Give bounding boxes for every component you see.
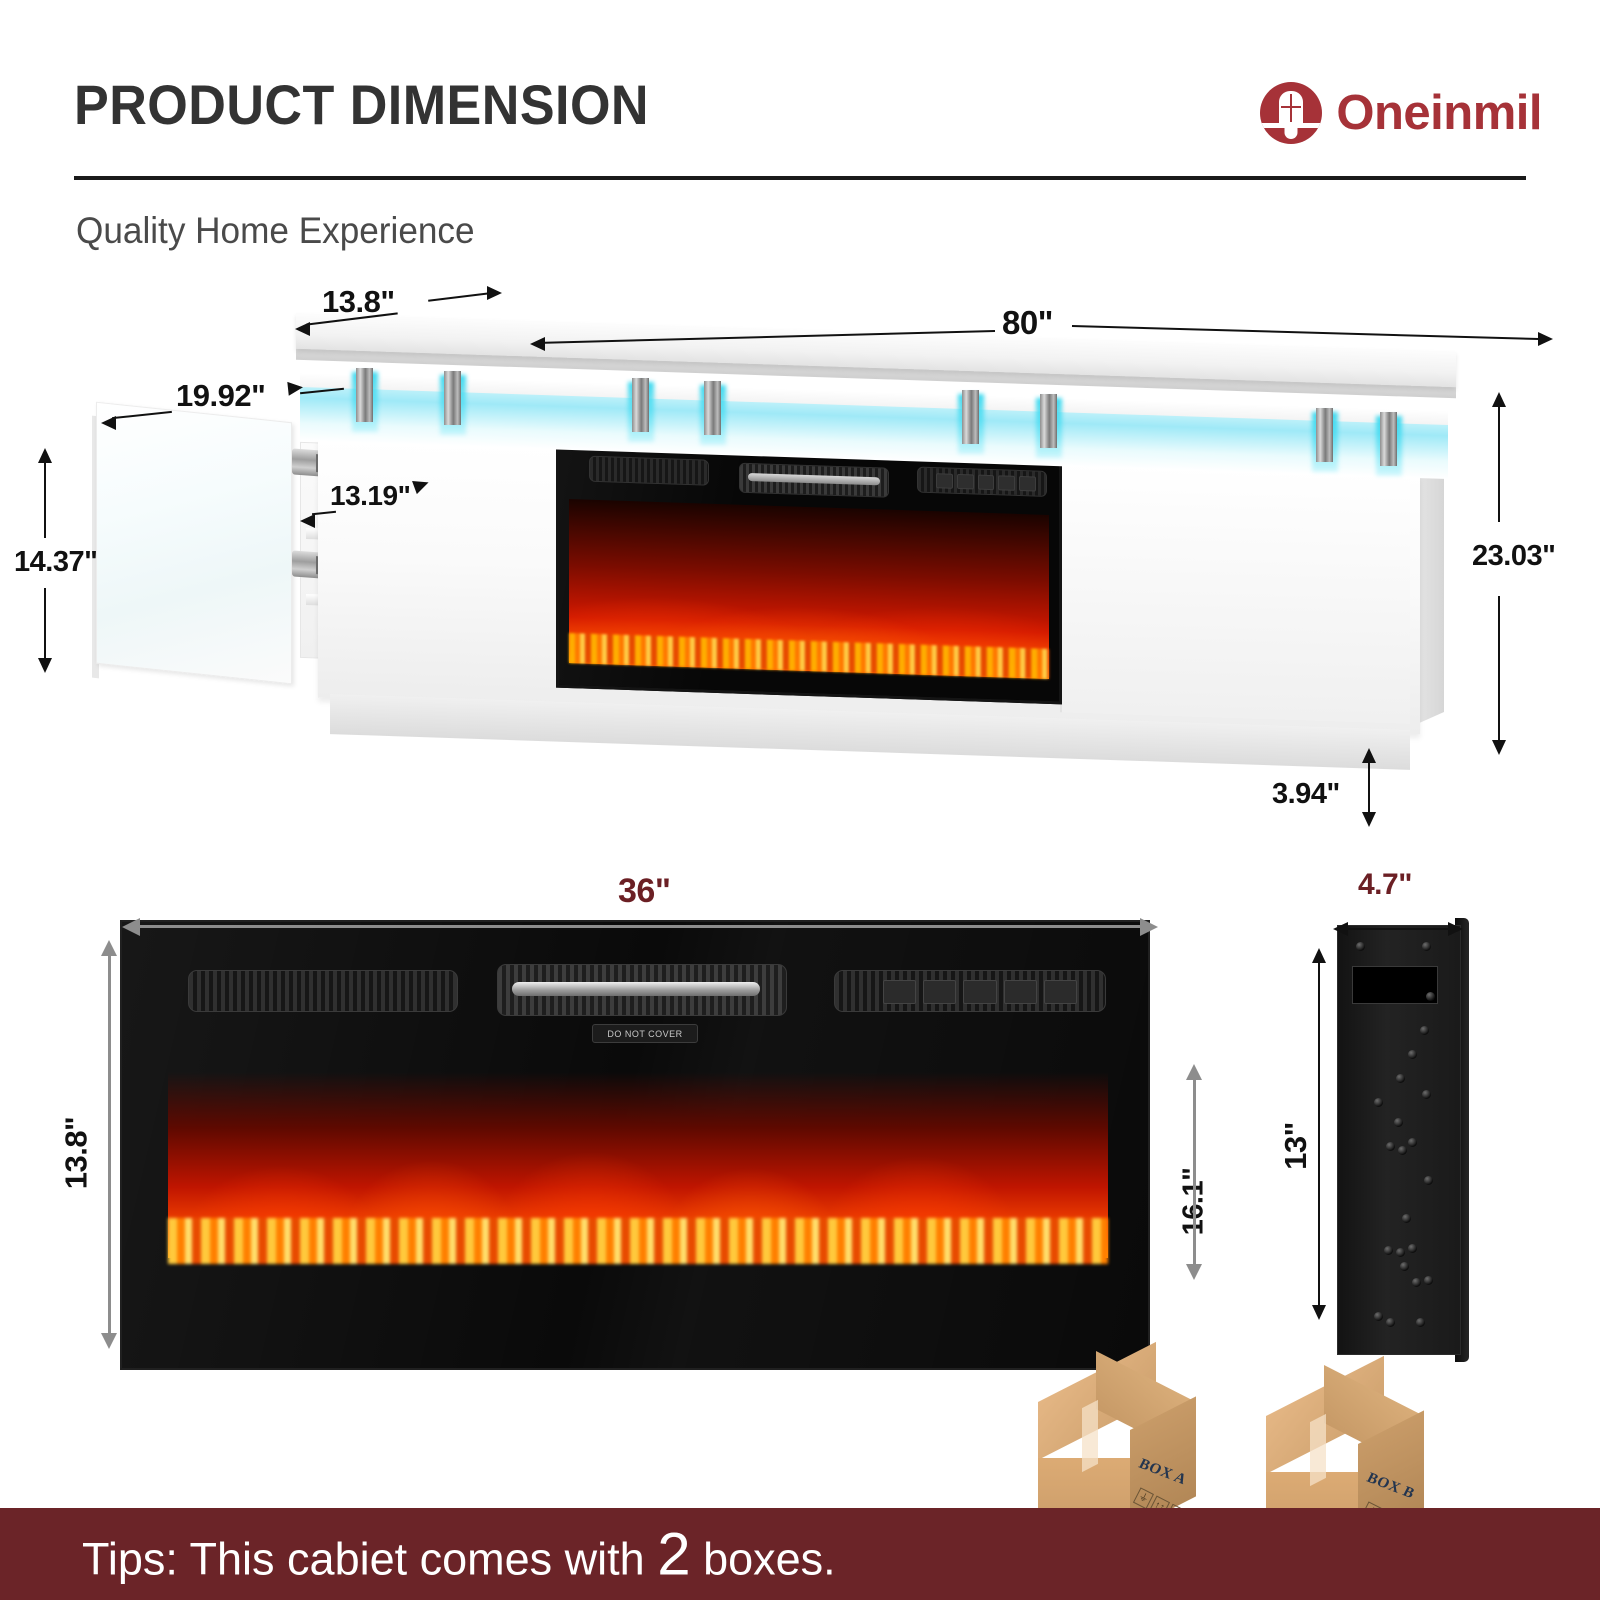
chrome-post-3 <box>632 378 649 432</box>
tips-prefix: Tips: This cabiet comes with <box>82 1534 657 1585</box>
dim-arrow <box>140 925 1140 928</box>
page-title: PRODUCT DIMENSION <box>74 72 649 137</box>
chrome-post-5 <box>962 390 979 444</box>
cabinet-right-door <box>1060 462 1410 724</box>
arrow-head <box>530 337 545 351</box>
arrow-head <box>487 286 502 300</box>
arrow-head <box>1333 922 1348 936</box>
chrome-post-4 <box>704 381 721 435</box>
arrow-head <box>1448 922 1463 936</box>
arrow-head <box>1362 812 1376 827</box>
do-not-cover-label: DO NOT COVER <box>592 1024 698 1043</box>
arrow-head <box>1312 1305 1326 1320</box>
side-vent-slot <box>1352 966 1438 1004</box>
brand-name: Oneinmil <box>1336 89 1542 138</box>
arrow-head <box>101 416 116 430</box>
product-dimension-infographic: PRODUCT DIMENSION Quality Home Experienc… <box>0 0 1600 1600</box>
dim-plinth-height: 3.94" <box>1272 778 1340 811</box>
heater-element-icon <box>497 964 787 1016</box>
dim-side-height: 13" <box>1278 1122 1314 1170</box>
chrome-post-1 <box>356 368 373 422</box>
ember-bed-large <box>168 1218 1108 1264</box>
arrow-head <box>38 658 52 673</box>
dim-overall-height: 23.03" <box>1472 540 1555 573</box>
dim-arrow <box>1368 758 1370 820</box>
dim-side-width: 4.7" <box>1358 868 1412 902</box>
page-subtitle: Quality Home Experience <box>76 210 475 252</box>
chrome-post-8 <box>1380 412 1397 466</box>
arrow-head <box>1140 918 1158 936</box>
dim-arrow <box>1193 1078 1196 1268</box>
arrow-head <box>101 1333 117 1349</box>
control-buttons-icon <box>917 467 1047 497</box>
dim-arrow <box>44 460 46 538</box>
tips-suffix: boxes. <box>691 1534 836 1585</box>
fireplace-insert-in-stand <box>556 438 1062 705</box>
arrow-head <box>1186 1064 1202 1080</box>
house-circle-icon <box>1260 82 1322 144</box>
fireplace-insert-front-view: DO NOT COVER <box>120 920 1150 1370</box>
arrow-head <box>1312 948 1326 963</box>
dim-arrow <box>44 588 46 664</box>
dim-arrow <box>1344 928 1452 930</box>
arrow-head <box>1492 392 1506 407</box>
dim-arrow <box>1498 596 1500 746</box>
dim-overall-width: 80" <box>1002 304 1053 342</box>
control-buttons-icon <box>834 970 1106 1012</box>
arrow-head <box>1362 748 1376 763</box>
arrow-head <box>1538 332 1553 346</box>
dim-shelf-depth: 13.19" <box>330 480 410 512</box>
arrow-head <box>1492 740 1506 755</box>
arrow-head <box>101 940 117 956</box>
tips-text: Tips: This cabiet comes with 2 boxes. <box>82 1520 836 1589</box>
tips-count: 2 <box>657 1521 690 1588</box>
heater-element-icon <box>739 463 889 498</box>
vent-grille-icon <box>188 970 458 1012</box>
arrow-head <box>287 380 303 395</box>
product-illustration <box>0 260 1600 840</box>
dim-insert-width: 36" <box>618 872 670 911</box>
dim-insert-height: 13.8" <box>58 1117 94 1190</box>
arrow-head <box>122 918 140 936</box>
open-cabinet-door <box>96 402 292 685</box>
arrow-head <box>38 448 52 463</box>
dim-arrow <box>1318 960 1320 1310</box>
dim-arrow <box>1498 404 1500 522</box>
arrow-head <box>295 322 310 336</box>
chrome-post-2 <box>444 371 461 425</box>
dim-cabinet-depth: 19.92" <box>176 378 265 414</box>
arrow-head <box>1186 1264 1202 1280</box>
header-divider <box>74 176 1526 180</box>
vent-grille-icon <box>589 456 709 486</box>
arrow-head <box>300 514 315 528</box>
dim-door-height: 14.37" <box>14 546 97 579</box>
dim-arrow <box>108 955 111 1335</box>
chrome-post-6 <box>1040 394 1057 448</box>
chrome-post-7 <box>1316 408 1333 462</box>
tips-banner: Tips: This cabiet comes with 2 boxes. <box>0 1508 1600 1600</box>
brand-logo: Oneinmil <box>1260 82 1542 144</box>
fireplace-insert-side-view <box>1337 925 1461 1355</box>
